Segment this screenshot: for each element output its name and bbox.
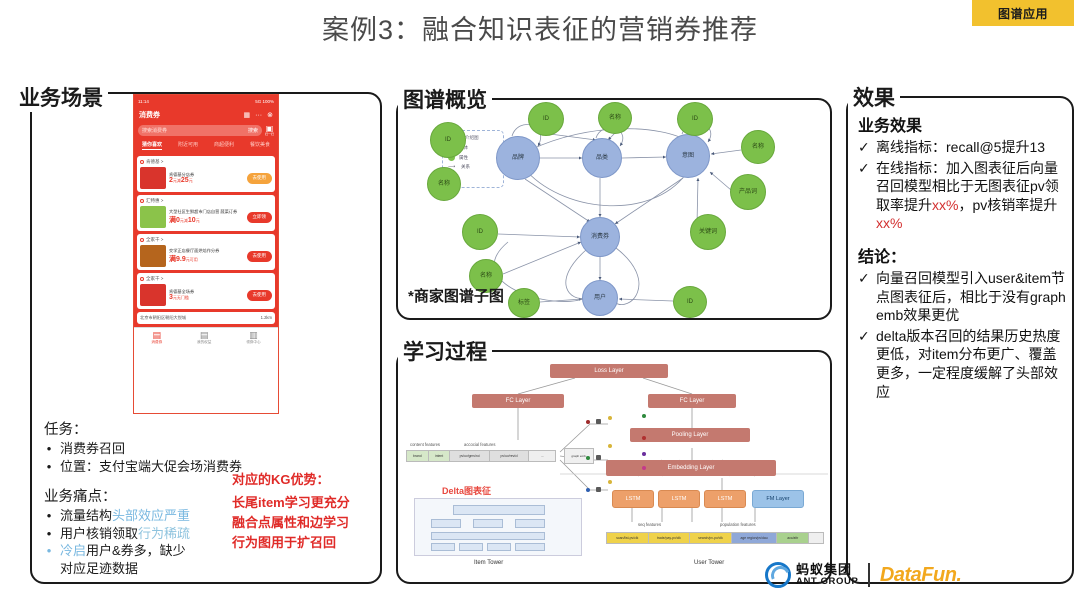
coupon-price2-suffix: 元 (189, 178, 193, 183)
legend-relation: ⟶关系 (448, 164, 498, 170)
check-icon: ✓ (858, 138, 870, 157)
feature-cell: scan/list-pv/clk (607, 533, 649, 543)
merchant-icon (140, 160, 144, 164)
coupon-thumbnail (140, 167, 166, 189)
tab-food[interactable]: 餐饮美食 (250, 141, 270, 150)
graph-node-attribute[interactable]: ID (462, 214, 498, 250)
section-title-learning: 学习过程 (398, 336, 492, 366)
acc-features-caption: accocial features (464, 442, 495, 447)
check-icon: ✓ (858, 269, 870, 325)
graph-dot (586, 488, 590, 492)
graph-square (596, 419, 601, 424)
check-icon: ✓ (858, 327, 870, 401)
graph-dot (608, 480, 612, 484)
graph-node-attribute[interactable]: ID (430, 122, 466, 158)
more-icon[interactable]: ··· (255, 112, 262, 119)
search-placeholder: 搜索消费券 (142, 127, 167, 134)
graph-node-attribute[interactable]: ID (528, 102, 564, 136)
phone-nav-title: 消费券 (139, 110, 160, 120)
feature-cell: brand (407, 451, 429, 461)
kg-heading: 对应的KG优势： (232, 470, 380, 490)
scan-icon[interactable]: ▣扫一扫 (265, 125, 274, 136)
graph-node-entity[interactable]: 意图 (666, 134, 710, 178)
kg-advantages: 对应的KG优势： 长尾item学习更充分 融合点属性和边学习 行为图用于扩召回 (232, 470, 380, 554)
section-title-business: 业务场景 (14, 82, 108, 112)
tab-nearby[interactable]: 附近可用 (178, 141, 198, 150)
logo-divider (868, 563, 870, 587)
ant-logo-icon (765, 562, 791, 588)
bullet-icon: • (44, 525, 54, 543)
coupon-price-suffix: 元减 (173, 178, 181, 183)
coupon-price2-suffix: 无门槛 (177, 295, 189, 300)
item-tower-detail (414, 498, 582, 556)
coupon-name: 大型社区生鲜超市门店自营 蔬菜订券 (169, 209, 244, 215)
list-item[interactable]: 汇特惠 > 大型社区生鲜超市门店自营 蔬菜订券 满0元减10元 立即领 (137, 195, 275, 231)
graph-node-attribute[interactable]: 标签 (508, 288, 540, 318)
pain-highlight: 头部效应严重 (112, 508, 190, 523)
fc-layer-right-box: FC Layer (648, 394, 736, 408)
list-item[interactable]: 肯德基 > 肯德基分店券 2元减25元 去使用 (137, 156, 275, 192)
coupon-price2: 25 (181, 177, 189, 184)
list-item[interactable]: 全家干 > 肯德基全场券 3元无门槛 去使用 (137, 273, 275, 309)
graph-dot (608, 416, 612, 420)
graph-dot (586, 420, 590, 424)
location-label: 北京市朝阳区朝阳大悦城 (140, 315, 186, 321)
effect-content: 业务效果 ✓ 离线指标：recall@5提升13 ✓ 在线指标：加入图表征后向量… (858, 112, 1068, 403)
user-feature-strip: scan/list-pv/clk trade/pay-pv/clk search… (606, 532, 824, 544)
pain-item: 对应足迹数据 (44, 560, 374, 578)
feature-cell: acc/attr (777, 533, 809, 543)
graph-dot (642, 466, 646, 470)
coupon-thumbnail (140, 206, 166, 228)
kg-item: 长尾item学习更充分 (232, 493, 380, 513)
graph-node-attribute[interactable]: 关键词 (690, 214, 726, 250)
bottom-nav-center[interactable]: ▥领券中心 (246, 331, 260, 345)
graph-caption: *商家图谱子图 (408, 285, 504, 306)
tab-convenience[interactable]: 商超便利 (214, 141, 234, 150)
task-heading: 任务： (44, 418, 374, 439)
location-distance: 1.2km (261, 315, 272, 321)
conclusion-item: ✓ delta版本召回的结果历史热度更低，对item分布更广、覆盖更多，一定程度… (858, 327, 1068, 401)
task-item: •消费券召回 (44, 440, 374, 458)
effect-item: ✓ 离线指标：recall@5提升13 (858, 138, 1068, 157)
graph-dot (642, 414, 646, 418)
feature-cell: ... (529, 451, 555, 461)
phone-coupon-list: 肯德基 > 肯德基分店券 2元减25元 去使用 汇特惠 > (134, 153, 278, 327)
feature-cell: trade/pay-pv/clk (649, 533, 691, 543)
fc-layer-left-box: FC Layer (472, 394, 564, 408)
list-item[interactable]: 全家干 > 交学正店餐厅面烘焙作分券 满9.9元可用 去使用 (137, 234, 275, 270)
phone-bottom-nav: ▤消费券 ▤我的权益 ▥领券中心 (134, 327, 278, 349)
merchant-name: 肯德基 > (146, 159, 163, 165)
feature-cell: pv/uv/rev/cl (490, 451, 529, 461)
user-tower-label: User Tower (694, 560, 724, 566)
conclusion-heading: 结论： (858, 243, 1068, 267)
coupon-price2: 10 (188, 217, 196, 224)
graph-dot (586, 456, 590, 460)
feature-cell: pv/uv/gmv/roi (450, 451, 489, 461)
graph-node-attribute[interactable]: ID (677, 102, 713, 136)
coupon-thumbnail (140, 284, 166, 306)
rights-icon: ▤ (197, 331, 211, 340)
tab-recommend[interactable]: 猜你喜欢 (142, 141, 162, 150)
graph-node-attribute[interactable]: 名称 (598, 102, 632, 134)
phone-mockup: 11:14 5G 100% 消费券 ▦ ··· ⊗ 搜索消费券 搜索 ▣扫一扫 … (133, 94, 279, 414)
graph-node-entity[interactable]: 品类 (582, 138, 622, 178)
feature-cell: search/pv-pv/clk (690, 533, 732, 543)
lstm-box-3: LSTM (704, 490, 746, 508)
coupon-price: 满0 (169, 217, 180, 224)
ant-logo-cn: 蚂蚁集团 (796, 563, 858, 577)
coupon-action-button[interactable]: 去使用 (247, 173, 273, 184)
search-button[interactable]: 搜索 (248, 127, 258, 134)
knowledge-graph-diagram: Schema介绍图 实体 属性 ⟶关系 品牌 品类 意图 消费券 用户 ID 名… (400, 102, 828, 316)
graph-node-attribute[interactable]: ID (673, 286, 707, 318)
feature-cell: age region/pv/dau (732, 533, 778, 543)
status-time: 11:14 (138, 99, 149, 104)
phone-search-row: 搜索消费券 搜索 ▣扫一扫 (134, 123, 278, 139)
phone-status-bar: 11:14 5G 100% (134, 95, 278, 107)
check-icon: ✓ (858, 159, 870, 233)
coupon-price-suffix: 元减 (180, 218, 188, 223)
graph-node-entity[interactable]: 用户 (582, 280, 618, 316)
coupon-price2-suffix: 元 (196, 218, 200, 223)
center-icon: ▥ (246, 331, 260, 340)
location-row[interactable]: 北京市朝阳区朝阳大悦城 1.2km (137, 312, 275, 324)
coupon-thumbnail (140, 245, 166, 267)
close-icon[interactable]: ⊗ (267, 111, 273, 119)
bottom-nav-rights[interactable]: ▤我的权益 (197, 331, 211, 345)
pain-highlight: 冷启 (60, 543, 86, 558)
embedding-layer-box: Embedding Layer (606, 460, 776, 476)
graph-dot (642, 452, 646, 456)
section-title-graph: 图谱概览 (398, 84, 492, 114)
kg-item: 融合点属性和边学习 (232, 513, 380, 533)
ant-group-logo: 蚂蚁集团 ANT GROUP (765, 562, 858, 588)
graph-dot (608, 444, 612, 448)
pain-highlight: 行为稀疏 (138, 526, 190, 541)
scan-label: 扫一扫 (265, 133, 274, 136)
status-indicators: 5G 100% (255, 99, 274, 104)
bullet-icon: • (44, 507, 54, 525)
coupon-action-button[interactable]: 去使用 (247, 251, 273, 262)
pooling-layer-box: Pooling Layer (630, 428, 750, 442)
item-tower-label: Item Tower (474, 560, 503, 566)
bullet-icon: • (44, 458, 54, 476)
business-effect-heading: 业务效果 (858, 112, 1068, 136)
feature-cell: intent (429, 451, 451, 461)
merchant-icon (140, 199, 144, 203)
effect-item: ✓ 在线指标：加入图表征后向量召回模型相比于无图表征pv领取率提升xx%，pv核… (858, 159, 1068, 233)
search-input[interactable]: 搜索消费券 搜索 (138, 125, 262, 136)
graph-node-attribute[interactable]: 名称 (427, 167, 461, 201)
graph-node-entity[interactable]: 品牌 (496, 136, 540, 180)
delta-graph-label: Delta图表征 (442, 484, 491, 497)
lstm-box-1: LSTM (612, 490, 654, 508)
section-title-effect: 效果 (848, 82, 900, 112)
item-feature-strip: brand intent pv/uv/gmv/roi pv/uv/rev/cl … (406, 450, 556, 462)
content-features-caption: content features (410, 442, 440, 447)
kg-item: 行为图用于扩召回 (232, 533, 380, 553)
coupon-price2-suffix: 可用 (190, 257, 198, 262)
footer-logos: 蚂蚁集团 ANT GROUP DataFun. (765, 562, 961, 588)
feature-cell (809, 533, 823, 543)
ant-logo-en: ANT GROUP (796, 576, 858, 587)
population-features-caption: population features (720, 522, 756, 527)
bullet-icon: • (44, 542, 54, 560)
coupon-price: 满9.9 (169, 256, 186, 263)
metric-placeholder: xx% (876, 215, 902, 231)
graph-node-attribute[interactable]: 产品词 (730, 174, 766, 210)
graph-square (596, 455, 601, 460)
metric-placeholder: xx% (932, 197, 958, 213)
coupon-icon: ▤ (151, 331, 162, 340)
bullet-icon: • (44, 440, 54, 458)
graph-node-entity[interactable]: 消费券 (580, 217, 620, 257)
graph-dot (642, 436, 646, 440)
merchant-icon (140, 238, 144, 242)
fm-layer-box: FM Layer (752, 490, 804, 508)
bottom-nav-coupon[interactable]: ▤消费券 (151, 331, 162, 345)
merchant-name: 汇特惠 > (146, 198, 163, 204)
lstm-box-2: LSTM (658, 490, 700, 508)
phone-nav-bar: 消费券 ▦ ··· ⊗ (134, 107, 278, 123)
page-title: 案例3：融合知识表征的营销券推荐 (0, 8, 1080, 47)
seq-features-caption: seq features (638, 522, 661, 527)
merchant-name: 全家干 > (146, 237, 163, 243)
model-architecture-diagram: Loss Layer FC Layer FC Layer Pooling Lay… (400, 356, 828, 578)
graph-node-attribute[interactable]: 名称 (741, 130, 775, 164)
conclusion-item: ✓ 向量召回模型引入user&item节点图表征后，相比于没有graph emb… (858, 269, 1068, 325)
loss-layer-box: Loss Layer (550, 364, 668, 378)
grid-icon[interactable]: ▦ (244, 111, 251, 119)
datafun-logo: DataFun. (880, 564, 962, 587)
coupon-action-button[interactable]: 去使用 (247, 290, 273, 301)
merchant-name: 全家干 > (146, 276, 163, 282)
coupon-action-button[interactable]: 立即领 (247, 212, 273, 223)
merchant-icon (140, 277, 144, 281)
phone-tabs: 猜你喜欢 附近可用 商超便利 餐饮美食 (134, 139, 278, 153)
graph-square (596, 487, 601, 492)
